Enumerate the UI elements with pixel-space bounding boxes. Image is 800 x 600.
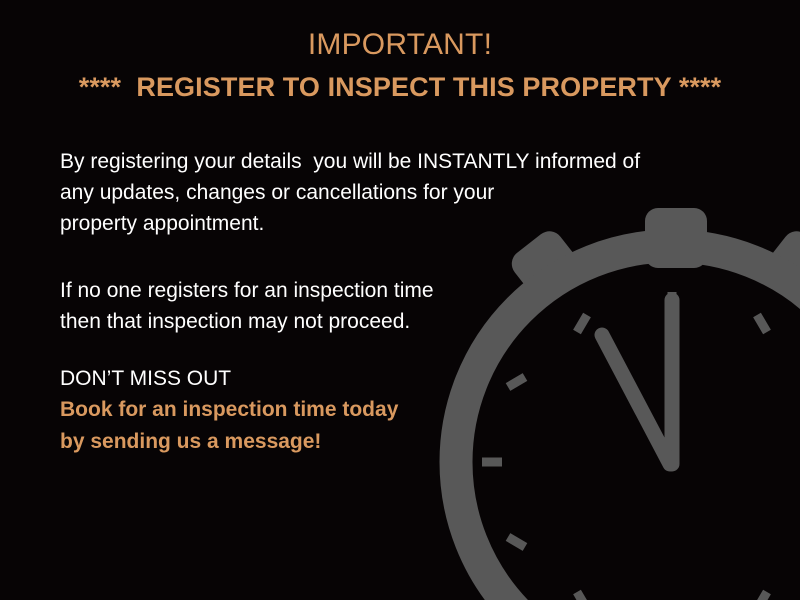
promo-slide: IMPORTANT! **** REGISTER TO INSPECT THIS…: [0, 0, 800, 600]
cta-dont-miss-out: DON’T MISS OUT: [60, 363, 720, 394]
headings-block: IMPORTANT! **** REGISTER TO INSPECT THIS…: [0, 26, 800, 104]
paragraph-line: If no one registers for an inspection ti…: [60, 275, 720, 306]
paragraph-registering-details: By registering your details you will be …: [60, 146, 720, 239]
paragraph-line: then that inspection may not proceed.: [60, 306, 720, 337]
paragraph-line: property appointment.: [60, 208, 720, 239]
heading-register: **** REGISTER TO INSPECT THIS PROPERTY *…: [0, 70, 800, 104]
cta-book-inspection: Book for an inspection time today: [60, 394, 720, 426]
paragraph-no-registrations: If no one registers for an inspection ti…: [60, 275, 720, 337]
heading-important: IMPORTANT!: [0, 26, 800, 64]
slide-content: IMPORTANT! **** REGISTER TO INSPECT THIS…: [0, 0, 800, 600]
paragraph-call-to-action: DON’T MISS OUT Book for an inspection ti…: [60, 363, 720, 458]
cta-send-message: by sending us a message!: [60, 426, 720, 458]
paragraph-line: By registering your details you will be …: [60, 146, 720, 177]
paragraph-line: any updates, changes or cancellations fo…: [60, 177, 720, 208]
